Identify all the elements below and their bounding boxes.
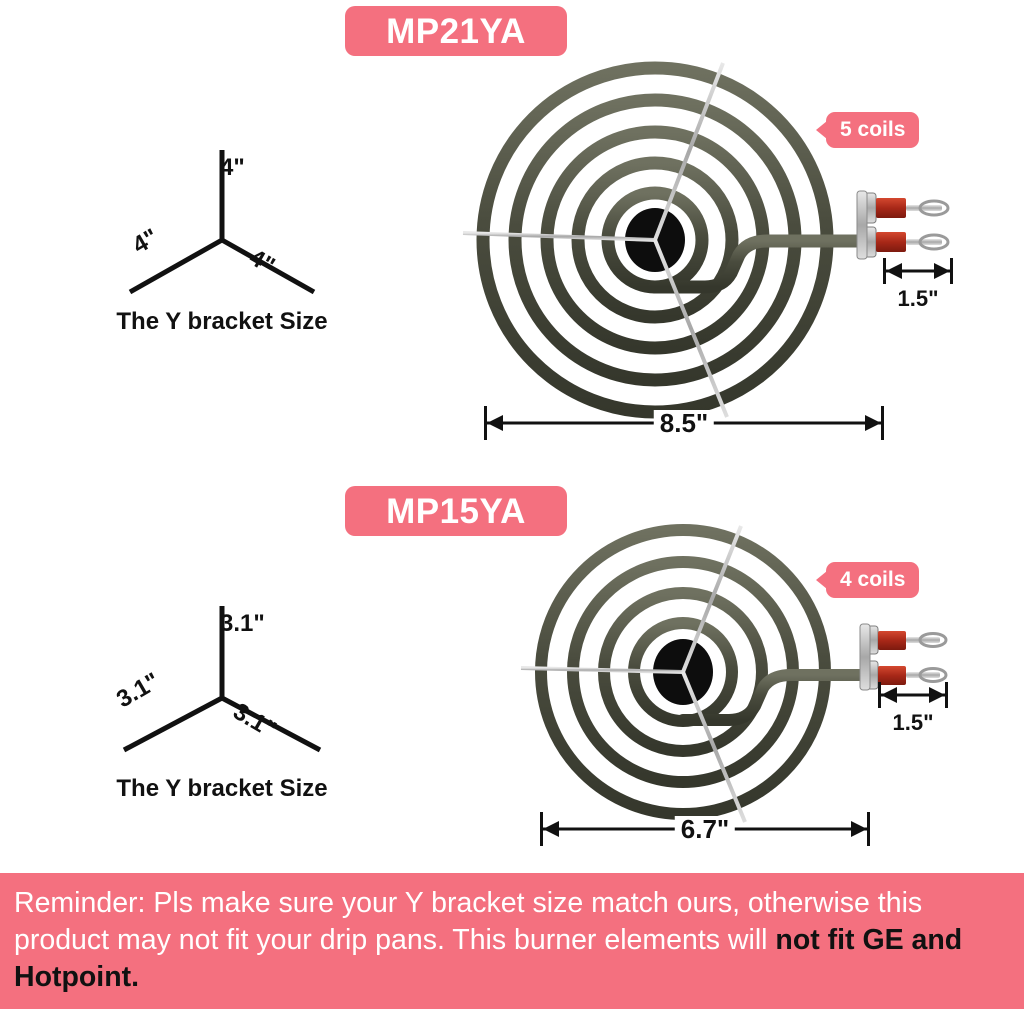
infographic-page: MP21YA 4" 4" 4" The Y bracket Size [0,0,1024,1009]
dimension-arrow-right [865,415,881,431]
reminder-text: Reminder: Pls make sure your Y bracket s… [14,885,1010,996]
model-badge-mp21ya: MP21YA [345,6,567,56]
diameter-dimension-mp15ya: 6.7" [540,812,870,846]
y-bracket-diagram-mp15ya: 3.1" 3.1" 3.1" The Y bracket Size [82,598,362,803]
y-bracket-arm-top-label: 3.1" [220,610,265,638]
terminal-dimension-mp21ya: 1.5" [883,258,953,284]
terminal-assembly-upper [860,193,948,223]
terminal-dimension-label: 1.5" [886,712,939,734]
coil-element-illustration [455,55,975,425]
y-bracket-arm-top-label: 4" [220,154,245,182]
dimension-arrow-right [851,821,867,837]
y-bracket-caption: The Y bracket Size [82,775,362,803]
dimension-arrow-right [929,687,945,703]
terminal-dimension-mp15ya: 1.5" [878,682,948,708]
diameter-dimension-label: 8.5" [654,410,714,436]
terminal-dimension-label: 1.5" [891,288,944,310]
dimension-arrow-left [886,263,902,279]
dimension-arrow-left [543,821,559,837]
terminal-mount-clamp [860,624,870,690]
dimension-arrow-left [881,687,897,703]
terminal-assembly-lower [860,227,948,257]
y-bracket-diagram-mp21ya: 4" 4" 4" The Y bracket Size [92,140,352,340]
coil-count-callout-mp15ya: 4 coils [826,562,919,598]
coil-count-callout-mp21ya: 5 coils [826,112,919,148]
y-bracket-caption: The Y bracket Size [92,308,352,336]
dimension-arrow-left [487,415,503,431]
diameter-dimension-label: 6.7" [675,816,735,842]
terminal-assembly-upper [863,626,946,654]
diameter-dimension-mp21ya: 8.5" [484,406,884,440]
dimension-arrow-right [934,263,950,279]
terminal-mount-clamp [857,191,867,259]
reminder-banner: Reminder: Pls make sure your Y bracket s… [0,873,1024,1009]
heating-element-mp21ya [455,55,975,425]
